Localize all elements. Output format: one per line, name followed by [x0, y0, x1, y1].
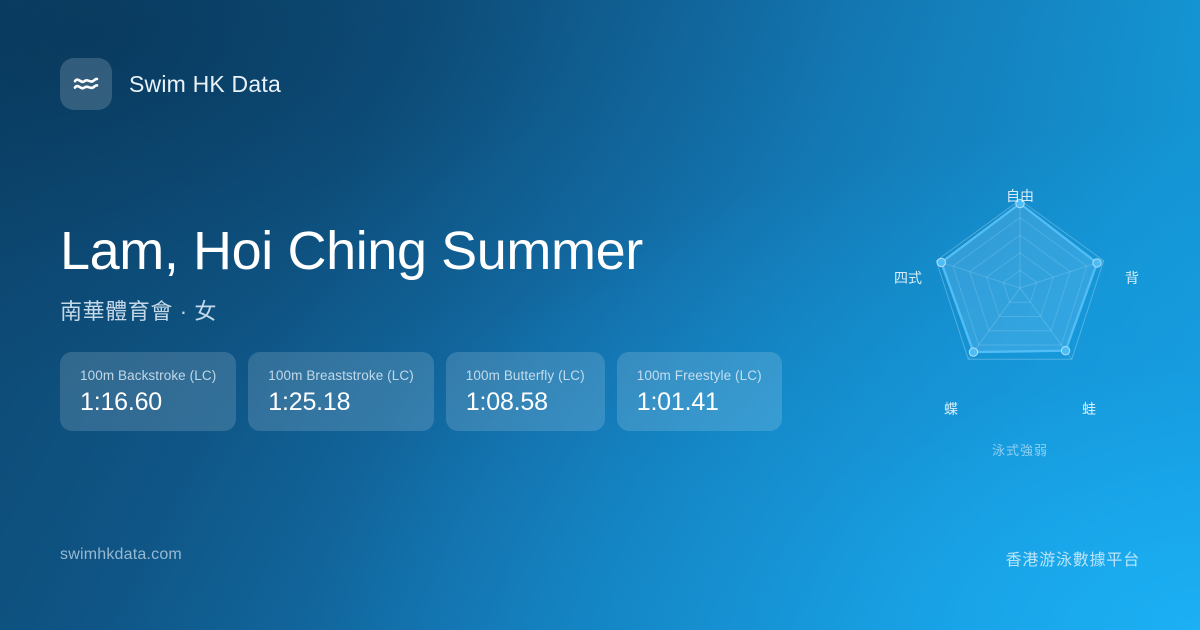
event-card[interactable]: 100m Butterfly (LC) 1:08.58 [446, 352, 605, 431]
radar-label-freestyle: 自由 [1006, 189, 1034, 205]
share-card: Swim HK Data Lam, Hoi Ching Summer 南華體育會… [0, 0, 1200, 630]
footer-site-url[interactable]: swimhkdata.com [60, 546, 182, 564]
radar-label-breaststroke: 蛙 [1082, 402, 1096, 418]
event-time: 1:01.41 [637, 390, 762, 415]
wave-icon [60, 58, 112, 110]
event-time: 1:25.18 [268, 390, 414, 415]
radar-label-backstroke: 背 [1125, 271, 1139, 287]
stroke-strength-radar-chart: 自由 背 蛙 蝶 四式 泳式強弱 [870, 170, 1170, 480]
event-card[interactable]: 100m Breaststroke (LC) 1:25.18 [248, 352, 434, 431]
event-label: 100m Butterfly (LC) [466, 368, 585, 383]
brand-logo[interactable]: Swim HK Data [60, 58, 281, 110]
event-card[interactable]: 100m Backstroke (LC) 1:16.60 [60, 352, 236, 431]
event-time: 1:16.60 [80, 390, 216, 415]
radar-caption: 泳式強弱 [870, 440, 1170, 459]
event-label: 100m Breaststroke (LC) [268, 368, 414, 383]
event-time: 1:08.58 [466, 390, 585, 415]
radar-label-butterfly: 蝶 [944, 402, 958, 418]
footer-tagline: 香港游泳數據平台 [1006, 546, 1140, 570]
event-label: 100m Backstroke (LC) [80, 368, 216, 383]
event-label: 100m Freestyle (LC) [637, 368, 762, 383]
athlete-block: Lam, Hoi Ching Summer 南華體育會 · 女 [60, 222, 643, 326]
event-card[interactable]: 100m Freestyle (LC) 1:01.41 [617, 352, 782, 431]
athlete-meta: 南華體育會 · 女 [60, 294, 643, 326]
brand-name: Swim HK Data [129, 71, 281, 98]
event-card-list: 100m Backstroke (LC) 1:16.60 100m Breast… [60, 352, 782, 431]
athlete-name: Lam, Hoi Ching Summer [60, 222, 643, 280]
radar-label-im: 四式 [894, 271, 922, 287]
